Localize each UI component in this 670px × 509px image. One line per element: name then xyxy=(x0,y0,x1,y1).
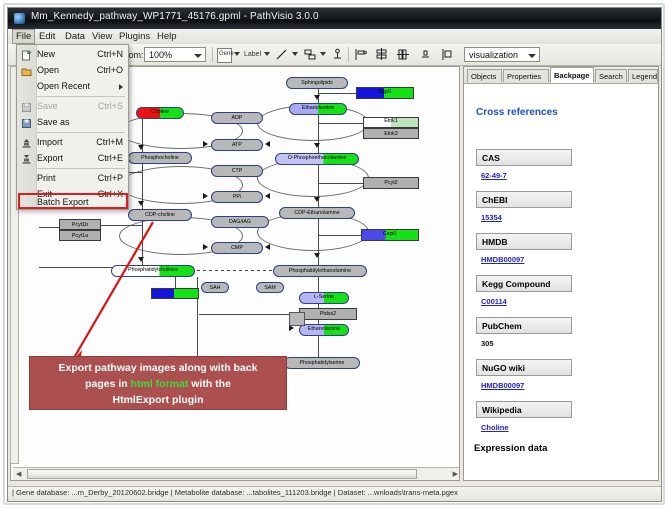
title-bar: Mm_Kennedy_pathway_WP1771_45176.gpml - P… xyxy=(8,8,661,30)
toolbar-separator-4 xyxy=(348,47,349,62)
window-title: Mm_Kennedy_pathway_WP1771_45176.gpml - P… xyxy=(31,11,319,22)
xref-label-hmdb: HMDB xyxy=(476,233,572,250)
xref-value-cas[interactable]: 62-49-7 xyxy=(481,171,507,180)
toolbar-separator-3 xyxy=(212,47,213,62)
visualization-value: visualization xyxy=(469,50,518,60)
menu-file[interactable]: File xyxy=(12,29,35,44)
file-menu-new-accel: Ctrl+N xyxy=(97,47,123,62)
tab-objects[interactable]: Objects xyxy=(467,69,502,82)
file-menu-open-recent[interactable]: Open Recent xyxy=(37,79,90,94)
callout-line-3: HtmlExport plugin xyxy=(30,392,286,408)
file-menu-import-accel: Ctrl+M xyxy=(96,135,123,150)
expression-data-heading: Expression data xyxy=(474,443,547,454)
line-icon[interactable] xyxy=(274,47,289,62)
menu-bar: File Edit Data View Plugins Help xyxy=(8,29,661,45)
group-icon[interactable] xyxy=(418,47,433,62)
file-menu-separator-1 xyxy=(37,96,125,97)
xref-value-pubchem: 305 xyxy=(481,339,494,348)
tab-properties[interactable]: Properties xyxy=(503,69,549,82)
label-tool-label: Label xyxy=(244,51,261,58)
xref-label-pubchem: PubChem xyxy=(476,317,572,334)
zoom-combo[interactable]: 100% xyxy=(144,47,206,62)
callout-line-1: Export pathway images along with back xyxy=(30,360,286,376)
zoom-value: 100% xyxy=(149,50,172,60)
file-menu-separator-3 xyxy=(37,168,125,169)
xref-value-hmdb[interactable]: HMDB00097 xyxy=(481,255,524,264)
backpage-content: Cross references CAS 62-49-7 ChEBI 15354… xyxy=(472,87,654,477)
shape-icon[interactable] xyxy=(302,47,317,62)
file-menu-save-accel: Ctrl+S xyxy=(98,99,123,114)
xref-value-chebi[interactable]: 15354 xyxy=(481,213,502,222)
file-menu-save-as[interactable]: Save as xyxy=(37,115,70,130)
annotation-callout: Export pathway images along with back pa… xyxy=(29,356,287,410)
status-bar: | Gene database: ...m_Derby_20120602.bri… xyxy=(8,486,661,501)
align-center-icon[interactable] xyxy=(374,47,389,62)
file-menu-batch-export[interactable]: Batch Export xyxy=(37,195,89,210)
menu-edit[interactable]: Edit xyxy=(35,30,59,43)
file-menu-print-accel: Ctrl+P xyxy=(98,171,123,186)
scroll-right-arrow-icon[interactable]: ▶ xyxy=(453,470,458,478)
tab-search[interactable]: Search xyxy=(595,69,627,82)
file-menu-separator-2 xyxy=(37,132,125,133)
line-dropdown-arrow-icon[interactable] xyxy=(292,52,298,56)
file-menu-import[interactable]: Import xyxy=(37,135,63,150)
file-menu-save: Save xyxy=(37,99,58,114)
gene-node-icon[interactable]: Gene xyxy=(217,48,232,63)
menu-data[interactable]: Data xyxy=(61,30,89,43)
pathvisio-window: Mm_Kennedy_pathway_WP1771_45176.gpml - P… xyxy=(7,7,662,502)
file-menu-print[interactable]: Print xyxy=(37,171,56,186)
callout-line-2-after: with the xyxy=(188,378,231,390)
pathvisio-icon xyxy=(14,13,25,24)
tab-legend[interactable]: Legend xyxy=(628,69,658,82)
visualization-chevron-down-icon xyxy=(528,54,536,58)
xref-label-nugo: NuGO wiki xyxy=(476,359,572,376)
callout-line-2-before: pages in xyxy=(85,378,131,390)
label-dropdown-arrow-icon[interactable] xyxy=(264,52,270,56)
order-icon[interactable] xyxy=(440,47,455,62)
xref-label-cas: CAS xyxy=(476,149,572,166)
xref-label-wikipedia: Wikipedia xyxy=(476,401,572,418)
open-folder-icon xyxy=(21,64,32,75)
file-menu-new[interactable]: New xyxy=(37,47,55,62)
shape-dropdown-arrow-icon[interactable] xyxy=(320,52,326,56)
align-middle-icon[interactable] xyxy=(396,47,411,62)
file-menu-open[interactable]: Open xyxy=(37,63,59,78)
gene-node-label: Gene xyxy=(219,51,234,57)
file-menu-open-accel: Ctrl+O xyxy=(97,63,123,78)
file-menu-export[interactable]: Export xyxy=(37,151,63,166)
tab-backpage[interactable]: Backpage xyxy=(550,67,594,83)
chevron-down-icon xyxy=(194,54,202,58)
xref-label-chebi: ChEBI xyxy=(476,191,572,208)
export-icon xyxy=(21,152,32,163)
save-as-icon xyxy=(21,116,32,127)
file-menu-export-accel: Ctrl+E xyxy=(98,151,123,166)
sidebar-panel: Objects Properties Backpage Search Legen… xyxy=(463,66,659,481)
canvas-hscrollbar[interactable]: ◀ ▶ xyxy=(13,467,460,480)
xref-value-kegg[interactable]: C00114 xyxy=(481,297,507,306)
import-icon xyxy=(21,136,32,147)
save-disk-icon xyxy=(21,100,32,111)
callout-html-format-highlight: html format xyxy=(131,378,189,390)
xref-value-nugo[interactable]: HMDB00097 xyxy=(481,381,524,390)
screenshot-frame: Mm_Kennedy_pathway_WP1771_45176.gpml - P… xyxy=(0,0,670,509)
status-text: | Gene database: ...m_Derby_20120602.bri… xyxy=(12,488,458,497)
gene-dropdown-arrow-icon[interactable] xyxy=(234,52,240,56)
menu-view[interactable]: View xyxy=(88,30,116,43)
callout-line-2: pages in html format with the xyxy=(30,376,286,392)
visualization-combo[interactable]: visualization xyxy=(464,47,540,62)
menu-help[interactable]: Help xyxy=(153,30,181,43)
file-menu-dropdown[interactable]: New Ctrl+N Open Ctrl+O Open Recent Save … xyxy=(16,44,129,210)
align-left-icon[interactable] xyxy=(353,47,368,62)
hscroll-thumb[interactable] xyxy=(27,469,417,479)
cross-references-heading: Cross references xyxy=(476,107,558,118)
menu-plugins[interactable]: Plugins xyxy=(115,30,154,43)
scroll-left-arrow-icon[interactable]: ◀ xyxy=(16,470,21,478)
xref-label-kegg: Kegg Compound xyxy=(476,275,572,292)
sidebar-tabs: Objects Properties Backpage Search Legen… xyxy=(464,67,658,84)
new-document-icon xyxy=(21,48,32,59)
submenu-chevron-right-icon xyxy=(119,84,123,90)
anchor-icon[interactable] xyxy=(330,47,345,62)
xref-value-wikipedia[interactable]: Choline xyxy=(481,423,509,432)
